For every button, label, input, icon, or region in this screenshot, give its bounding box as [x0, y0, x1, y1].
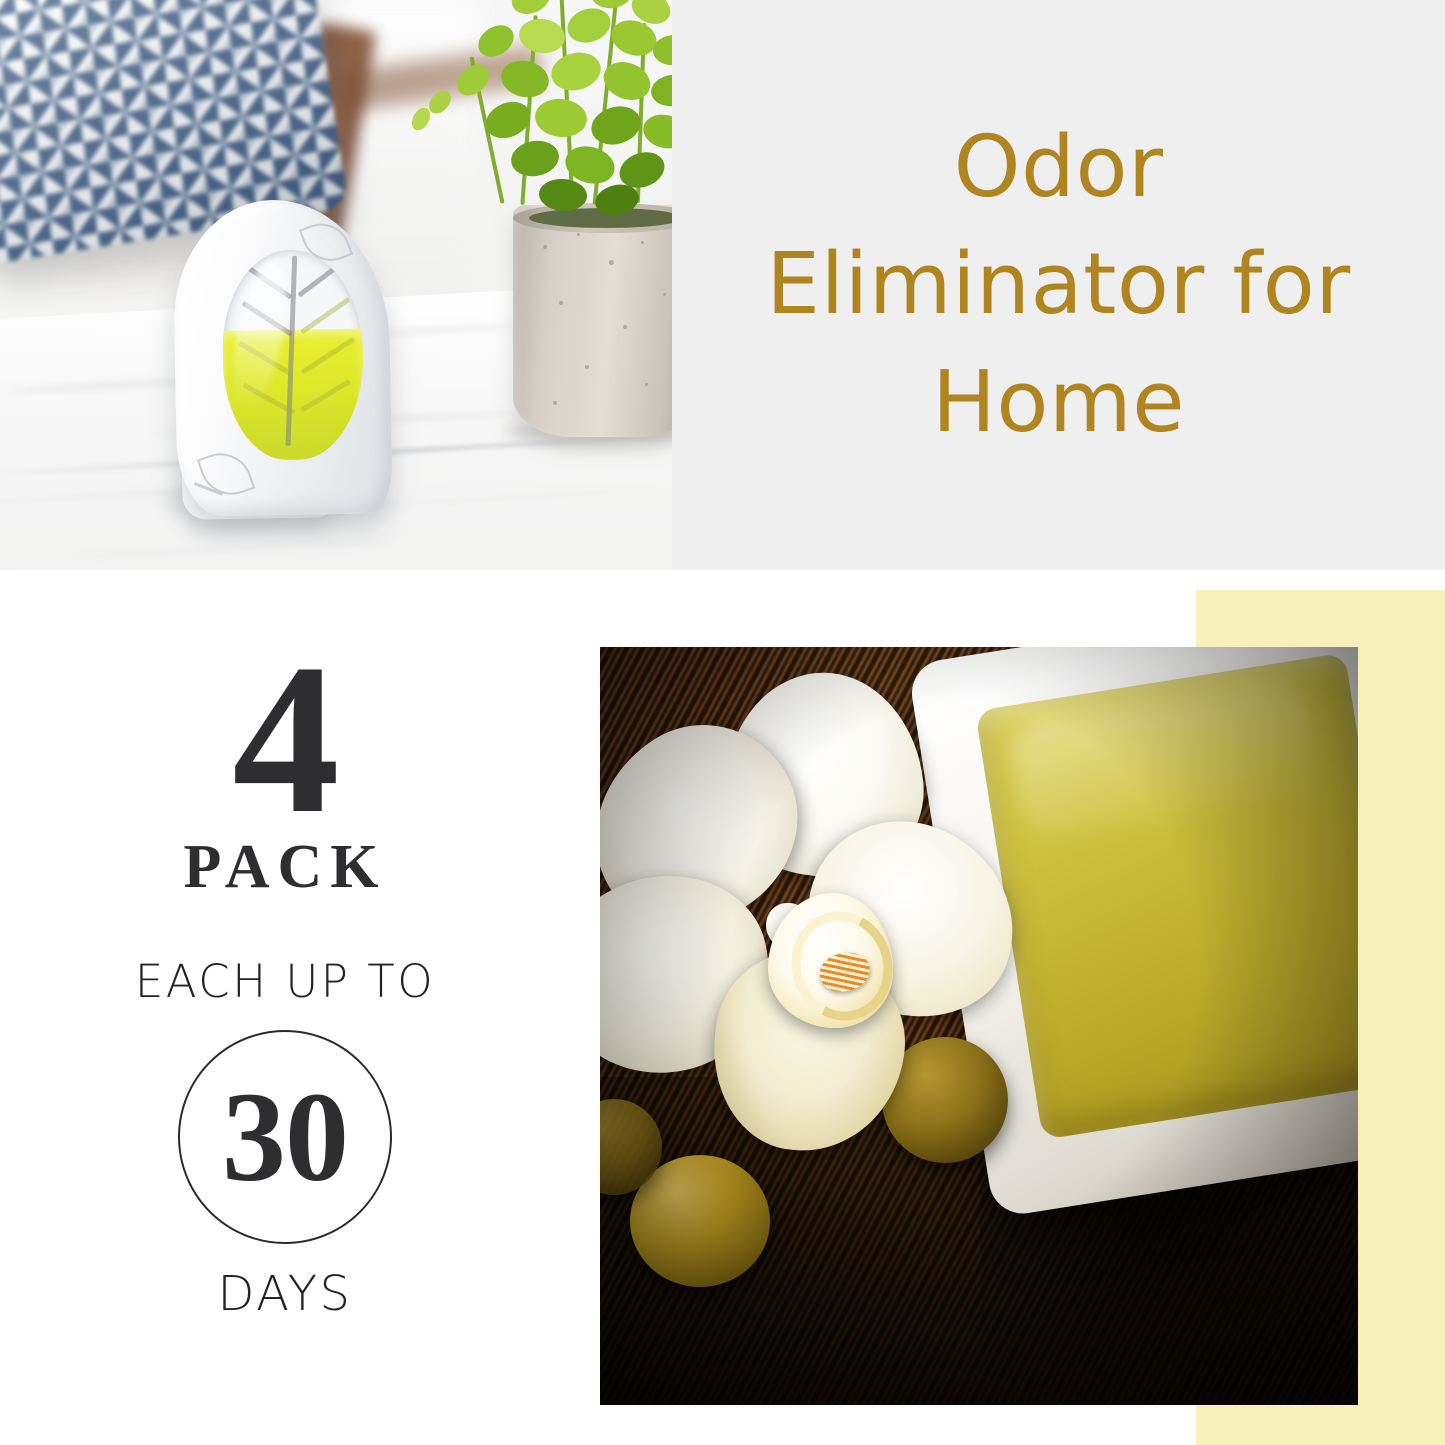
white-orchid [600, 665, 1070, 1185]
orchid-oil-photo [600, 647, 1358, 1405]
duration-unit: DAYS [60, 1266, 510, 1322]
pack-callout: 4 PACK EACH UP TO 30 DAYS [60, 640, 510, 1322]
pack-count: 4 [60, 640, 510, 838]
lifestyle-photo [0, 0, 672, 570]
air-freshener-product [172, 198, 392, 517]
headline-line-1: Odor [709, 109, 1409, 226]
duration-value: 30 [222, 1073, 348, 1201]
green-plant [415, 0, 672, 240]
headline-line-2: Eliminator for [709, 226, 1409, 343]
headline-line-3: Home [709, 344, 1409, 461]
headline-panel: Odor Eliminator for Home [672, 0, 1445, 570]
page-title: Odor Eliminator for Home [709, 109, 1409, 461]
duration-prefix: EACH UP TO [60, 955, 510, 1008]
product-infographic: Odor Eliminator for Home 4 PACK EACH UP … [0, 0, 1445, 1445]
duration-badge: 30 [178, 1030, 392, 1244]
duration-badge-wrap: 30 [60, 1030, 510, 1244]
pack-unit-label: PACK [60, 832, 510, 903]
